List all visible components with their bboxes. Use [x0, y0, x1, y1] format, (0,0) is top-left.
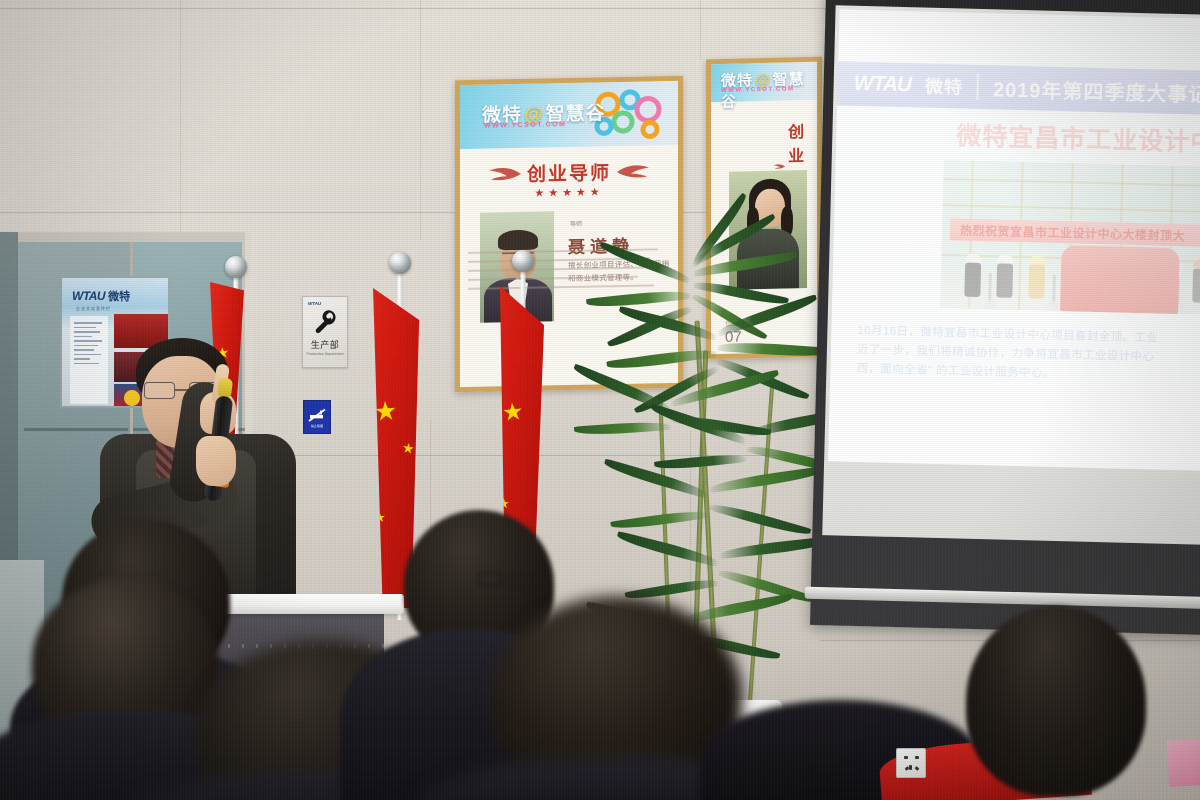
projected-slide: WTAU 微特 2019年第四季度大事记 微特宜昌市工业设计中心 热烈祝贺宜昌市…: [828, 9, 1200, 470]
slide-header-divider: [977, 74, 980, 100]
bulletin-subtitle: 企业文化宣传栏: [76, 306, 111, 312]
poster-header: 微特@智慧谷 WWW.YCSOT.COM: [460, 81, 678, 149]
flag-star-large: ★: [373, 395, 398, 428]
slide-header-title: 2019年第四季度大事记: [993, 73, 1200, 107]
flag-star-small: ★: [374, 510, 386, 527]
bulletin-logo: WTAU 微特: [72, 286, 164, 306]
wing-right-icon: [617, 162, 651, 181]
door-sign-logo: WTAU: [308, 301, 321, 306]
construction-worker: [1192, 259, 1200, 302]
slide-header-bar: WTAU 微特 2019年第四季度大事记: [837, 61, 1200, 114]
wing-left-icon: [487, 164, 521, 183]
audience-head: [966, 606, 1146, 796]
presenter-hand-holding-mic: [196, 436, 236, 486]
construction-worker: [1028, 255, 1047, 298]
wall-seam: [180, 0, 181, 240]
slide-construction-photo: 热烈祝贺宜昌市工业设计中心大楼封顶大: [940, 160, 1200, 316]
construction-worker: [964, 254, 983, 297]
slide-brand-latin: WTAU: [853, 72, 911, 97]
poster-header: 微特@智慧谷 WWW.YCSOT.COM: [711, 62, 817, 102]
red-drape: [1060, 245, 1180, 314]
meeting-room-photo: WTAU 微特 企业文化宣传栏 WTAU 生产部 Production Depa…: [0, 0, 1200, 800]
poster-stars: ★★★★★: [460, 184, 678, 201]
pink-wall-card: [1167, 739, 1200, 787]
poster-award-title: 创业导师: [527, 158, 611, 187]
wall-seam: [420, 0, 421, 240]
portrait-hair: [498, 230, 538, 251]
flag-star-small: ★: [498, 496, 510, 512]
projection-screen: WTAU 微特 2019年第四季度大事记 微特宜昌市工业设计中心 热烈祝贺宜昌市…: [810, 0, 1200, 635]
construction-worker: [996, 254, 1015, 297]
flag-star-large: ★: [501, 397, 525, 428]
wall-power-outlet: [896, 748, 926, 778]
slide-brand-cn: 微特: [925, 73, 964, 100]
bulletin-brand-latin: WTAU: [72, 289, 105, 303]
construction-banner: 热烈祝贺宜昌市工业设计中心大楼封顶大: [950, 218, 1200, 247]
wall-seam: [700, 0, 701, 60]
mentor-role-label: 导师: [570, 219, 582, 228]
slide-body-text: 10月16日，微特宜昌市工业设计中心项目喜封全顶。工业 近了一步，我们将精诚协作…: [856, 322, 1200, 388]
audience-glasses: [478, 572, 536, 588]
flag-star-small: ★: [401, 439, 416, 458]
poster-url: WWW.YCSOT.COM: [484, 121, 567, 130]
poster-award-row: 创业导师: [460, 157, 678, 188]
slide-title: 微特宜昌市工业设计中心: [956, 116, 1200, 159]
construction-banner-text: 热烈祝贺宜昌市工业设计中心大楼封顶大: [960, 221, 1185, 244]
flag-finial: [512, 250, 534, 272]
flag-finial: [389, 252, 411, 274]
flag-finial: [225, 256, 247, 278]
bulletin-brand-cn: 微特: [108, 288, 130, 304]
